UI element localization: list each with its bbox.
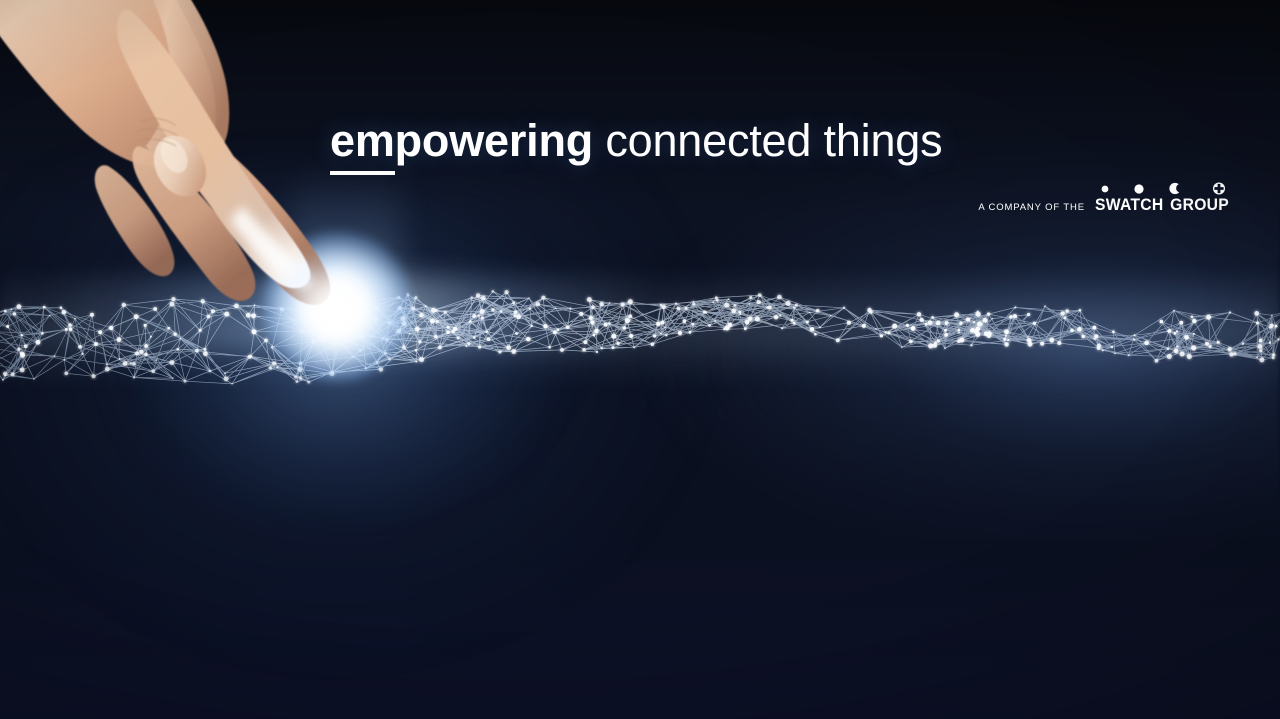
- swatch-group-text: SWATCHGROUP: [1095, 196, 1229, 215]
- company-of-the-label: A COMPANY OF THE: [978, 202, 1085, 215]
- page-title: empowering connected things: [330, 116, 942, 166]
- swatch-group-wordmark: SWATCHGROUP: [1095, 196, 1236, 215]
- swatch-word-2: GROUP: [1170, 196, 1229, 214]
- headline-bold: powering: [395, 115, 593, 166]
- swiss-cross-circle-icon: [1213, 183, 1225, 195]
- waxing-moon-dot-icon: [1134, 184, 1143, 193]
- headline-light: connected things: [593, 115, 942, 166]
- hero-banner: empowering connected things A COMPANY OF…: [0, 0, 1280, 719]
- swatch-word-1: SWATCH: [1095, 196, 1163, 214]
- headline-underlined: em: [330, 115, 395, 175]
- swatch-group-lockup: A COMPANY OF THE: [978, 196, 1236, 215]
- crescent-moon-icon: [1169, 183, 1185, 194]
- new-moon-dot-icon: [1102, 186, 1109, 193]
- moon-phase-icons: [1099, 182, 1231, 195]
- fingertip-glow-overlay: [276, 250, 396, 370]
